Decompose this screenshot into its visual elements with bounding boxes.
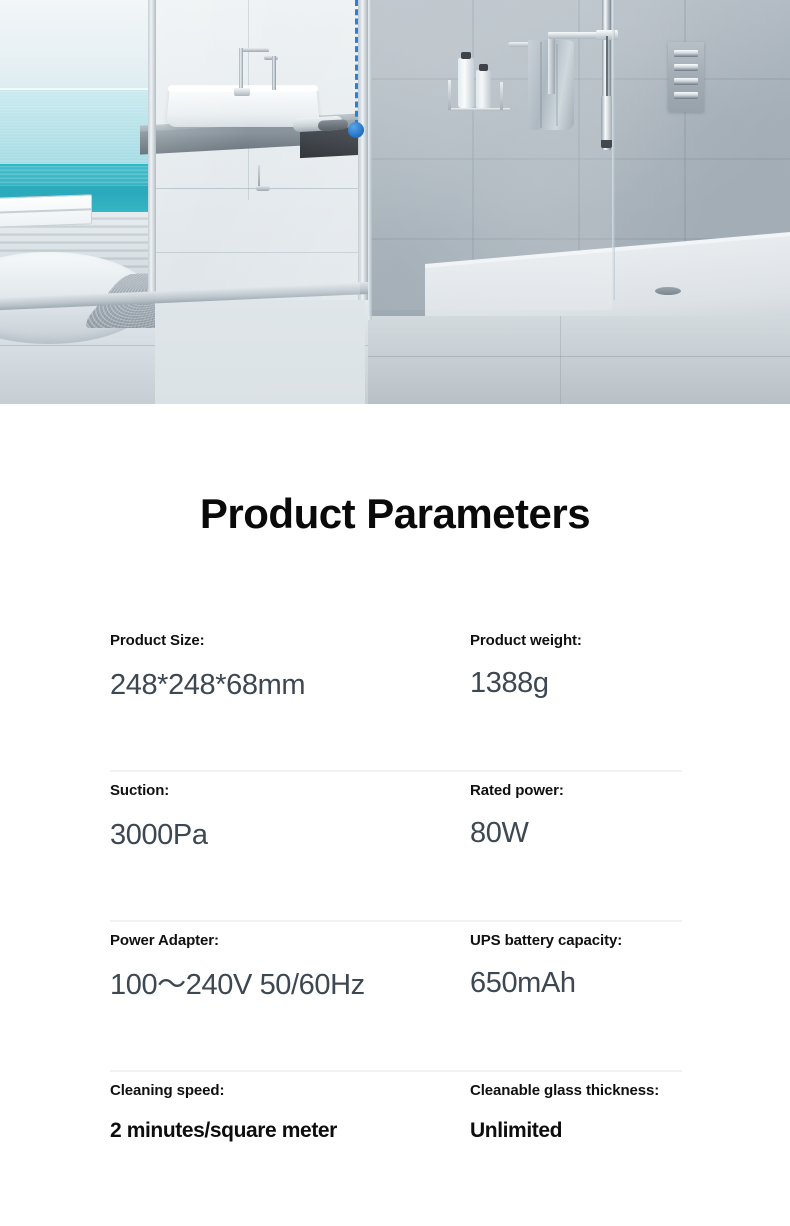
wall-seam	[155, 252, 365, 253]
spec-table: Product Size: 248*248*68mm Product weigh…	[0, 622, 790, 1212]
glass-door-frame-left	[148, 0, 156, 300]
page-title: Product Parameters	[0, 490, 790, 538]
spec-label: Power Adapter:	[110, 932, 460, 950]
spec-value: 100～240V 50/60Hz	[110, 967, 460, 1003]
glass-door-frame-right	[358, 0, 368, 300]
spec-cell-suction: Suction: 3000Pa	[110, 782, 460, 853]
interior-wall	[155, 0, 365, 404]
spec-row: Product Size: 248*248*68mm Product weigh…	[0, 622, 790, 772]
spec-label: Cleanable glass thickness:	[470, 1082, 770, 1100]
hero-bathroom-photo	[0, 0, 790, 404]
spec-label: UPS battery capacity:	[470, 932, 770, 950]
spec-value: 3000Pa	[110, 817, 460, 853]
rolled-towel-dark	[318, 119, 348, 131]
spec-cell-cleaning-speed: Cleaning speed: 2 minutes/square meter	[110, 1082, 460, 1144]
blue-dashed-marker-line	[355, 0, 358, 126]
floor-seam	[368, 356, 790, 357]
glass-tint-overlay	[372, 0, 612, 310]
under-counter-bar	[258, 165, 260, 187]
spec-label: Suction:	[110, 782, 460, 800]
shower-control-button	[674, 78, 698, 85]
bathroom-floor	[368, 316, 790, 404]
floor-drain-icon	[655, 287, 681, 295]
shower-control-button	[674, 50, 698, 57]
product-parameters-section: Product Parameters Product Size: 248*248…	[0, 404, 790, 1226]
spec-value: 248*248*68mm	[110, 667, 460, 703]
spec-cell-rated-power: Rated power: 80W	[470, 782, 770, 851]
spec-label: Cleaning speed:	[110, 1082, 460, 1100]
spec-row: Cleaning speed: 2 minutes/square meter C…	[0, 1072, 790, 1212]
spec-cell-product-weight: Product weight: 1388g	[470, 632, 770, 701]
product-detail-page: Product Parameters Product Size: 248*248…	[0, 0, 790, 1226]
shower-control-button	[674, 92, 698, 99]
spec-label: Product Size:	[110, 632, 460, 650]
floor-seam	[560, 316, 561, 404]
shower-control-button	[674, 64, 698, 71]
spec-value: 1388g	[470, 665, 770, 701]
spec-label: Product weight:	[470, 632, 770, 650]
spec-cell-product-size: Product Size: 248*248*68mm	[110, 632, 460, 703]
spec-cell-power-adapter: Power Adapter: 100～240V 50/60Hz	[110, 932, 460, 1003]
faucet-base	[234, 88, 250, 96]
spec-value: 80W	[470, 815, 770, 851]
spec-value: 2 minutes/square meter	[110, 1118, 460, 1144]
chrome-faucet-secondary	[272, 56, 276, 90]
spec-row: Power Adapter: 100～240V 50/60Hz UPS batt…	[0, 922, 790, 1072]
chrome-faucet	[239, 48, 243, 90]
spec-value: 650mAh	[470, 965, 770, 1001]
spec-row: Suction: 3000Pa Rated power: 80W	[0, 772, 790, 922]
spec-cell-glass-thickness: Cleanable glass thickness: Unlimited	[470, 1082, 770, 1144]
spec-label: Rated power:	[470, 782, 770, 800]
under-counter-hook	[256, 186, 270, 191]
spec-value: Unlimited	[470, 1118, 770, 1144]
spec-cell-ups-battery: UPS battery capacity: 650mAh	[470, 932, 770, 1001]
faucet-arm	[239, 48, 269, 52]
blue-marker-dot	[348, 122, 364, 138]
glass-partition-edge	[612, 0, 615, 300]
